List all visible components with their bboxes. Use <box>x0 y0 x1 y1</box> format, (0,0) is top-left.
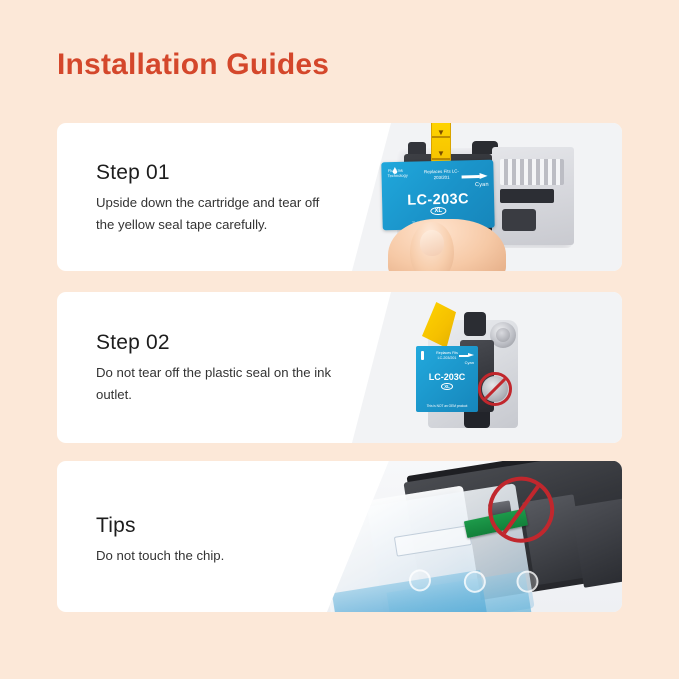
step-01-heading: Step 01 <box>96 161 356 185</box>
ink-drop-icon <box>421 351 424 360</box>
label-capacity-badge: XL <box>382 207 494 216</box>
label-replaces-note: Replaces Fits LC-203/201 <box>434 351 460 360</box>
guide-card-step-02: Replaces Fits LC-203/201 Cyan LC-203C XL… <box>57 292 622 443</box>
tips-text: Tips Do not touch the chip. <box>96 514 356 567</box>
label-replaces-note: Replaces Fits LC-203/201 <box>419 168 463 180</box>
label-model-code: LC-203C <box>416 372 478 382</box>
label-color-name: Cyan <box>465 360 474 365</box>
printer-carriage-scene <box>327 461 622 612</box>
step-02-photo: Replaces Fits LC-203/201 Cyan LC-203C XL… <box>352 292 622 443</box>
cartridge-ridges <box>500 159 564 185</box>
tips-photo <box>327 461 622 612</box>
cartridge-slot-upper <box>500 189 554 203</box>
step-01-text: Step 01 Upside down the cartridge and te… <box>96 161 356 235</box>
tips-heading: Tips <box>96 514 356 538</box>
cartridge-top-block <box>464 312 486 336</box>
capacity-badge-text: XL <box>430 207 446 215</box>
arrow-right-icon <box>459 353 474 358</box>
cartridge-top-nub-left <box>408 142 426 154</box>
prohibition-circle-slash-icon <box>478 372 512 406</box>
label-brand-note: Fluid Ink Technology <box>387 168 403 178</box>
label-color-name: Cyan <box>475 182 489 188</box>
step-02-text: Step 02 Do not tear off the plastic seal… <box>96 331 356 405</box>
cartridge-round-port-inner <box>496 328 510 342</box>
step-02-heading: Step 02 <box>96 331 356 355</box>
thumbnail <box>420 230 444 256</box>
step-02-description: Do not tear off the plastic seal on the … <box>96 362 332 405</box>
arrow-right-icon <box>462 173 488 180</box>
cartridge-foot <box>464 412 490 428</box>
step-01-photo: ▼▼▼ Fluid Ink Technology Replaces Fits L… <box>352 123 622 271</box>
tips-description: Do not touch the chip. <box>96 545 332 566</box>
label-capacity-badge: XL <box>416 384 478 389</box>
step-01-description: Upside down the cartridge and tear off t… <box>96 192 332 235</box>
capacity-badge-text: XL <box>441 383 453 390</box>
cartridge-slot-lower <box>502 209 536 231</box>
guide-card-tips: Tips Do not touch the chip. <box>57 461 622 612</box>
guide-card-step-01: ▼▼▼ Fluid Ink Technology Replaces Fits L… <box>57 123 622 271</box>
label-footnote: This is NOT an OEM product <box>416 404 478 408</box>
cartridge-label: Replaces Fits LC-203/201 Cyan LC-203C XL… <box>416 346 478 412</box>
page-title: Installation Guides <box>57 48 329 82</box>
